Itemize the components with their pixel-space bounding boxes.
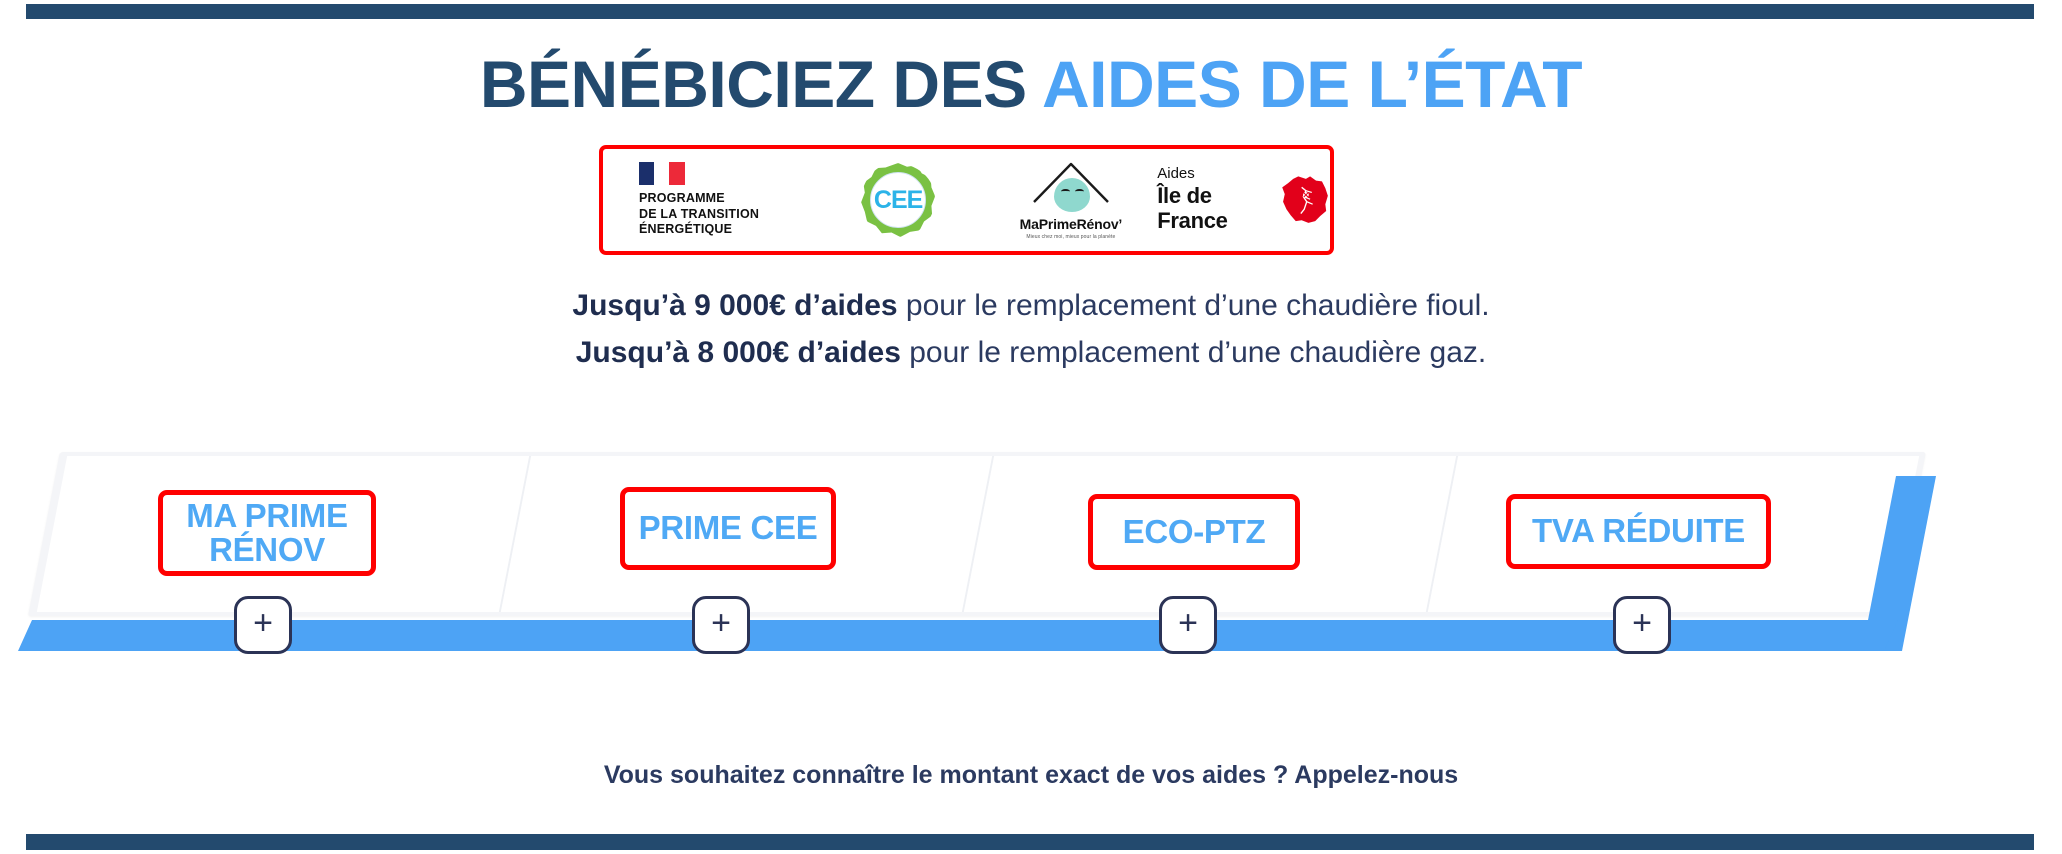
plus-icon: + [711, 606, 731, 640]
logo-maprimerenov: MaPrimeRénov’ Mieux chez moi, mieux pour… [985, 149, 1158, 251]
plus-icon: + [1178, 606, 1198, 640]
aid-card-tva-reduite[interactable]: TVA RÉDUITE [1506, 494, 1771, 569]
expand-button-ma-prime-renov[interactable]: + [234, 596, 292, 654]
maprimerenov-label: MaPrimeRénov’ [1020, 216, 1122, 232]
expand-button-tva-reduite[interactable]: + [1613, 596, 1671, 654]
top-divider-bar [26, 4, 2034, 19]
page-title-light-part: AIDES DE L’ÉTAT [1042, 47, 1582, 121]
maprimerenov-tagline: Mieux chez moi, mieux pour la planète [1026, 234, 1115, 240]
aid-amount-line-gaz: Jusqu’à 8 000€ d’aides pour le remplacem… [0, 329, 2062, 376]
page-title-dark-part: BÉNÉBICIEZ DES [480, 47, 1042, 121]
aid-amount-line-fioul: Jusqu’à 9 000€ d’aides pour le remplacem… [0, 282, 2062, 329]
idf-text: Aides Île de France [1157, 166, 1267, 233]
aid-amount-gaz-strong: Jusqu’à 8 000€ d’aides [576, 336, 901, 369]
aid-card-ma-prime-renov[interactable]: MA PRIME RÉNOV [158, 490, 376, 576]
aid-amount-fioul-rest: pour le remplacement d’une chaudière fio… [898, 289, 1490, 322]
aid-amount-gaz-rest: pour le remplacement d’une chaudière gaz… [901, 336, 1486, 369]
bottom-divider-bar [26, 834, 2034, 850]
partner-logo-strip: PROGRAMME DE LA TRANSITION ÉNERGÉTIQUE C… [599, 145, 1334, 255]
page-title: BÉNÉBICIEZ DES AIDES DE L’ÉTAT [0, 46, 2062, 122]
aid-card-4-label: TVA RÉDUITE [1532, 514, 1745, 548]
logo-programme-transition-energetique: PROGRAMME DE LA TRANSITION ÉNERGÉTIQUE [603, 149, 812, 251]
logo-aides-ile-de-france: Aides Île de France [1157, 149, 1330, 251]
plus-icon: + [1632, 606, 1652, 640]
logo-programme-text: PROGRAMME DE LA TRANSITION ÉNERGÉTIQUE [639, 191, 759, 238]
logo-programme-line-2: DE LA TRANSITION [639, 207, 759, 223]
plus-icon: + [253, 606, 273, 640]
maprimerenov-house-icon [1032, 161, 1110, 213]
aid-card-3-label: ECO-PTZ [1123, 515, 1266, 549]
logo-programme-line-3: ÉNERGÉTIQUE [639, 222, 759, 238]
contact-prompt: Vous souhaitez connaître le montant exac… [0, 761, 2062, 790]
aid-card-prime-cee[interactable]: PRIME CEE [620, 487, 836, 570]
expand-button-prime-cee[interactable]: + [692, 596, 750, 654]
idf-line-1: Aides [1157, 166, 1267, 183]
logo-programme-line-1: PROGRAMME [639, 191, 759, 207]
cee-label: CEE [874, 186, 922, 215]
aid-amounts: Jusqu’à 9 000€ d’aides pour le remplacem… [0, 282, 2062, 377]
aid-card-1-label: MA PRIME RÉNOV [163, 499, 371, 568]
aid-card-2-label: PRIME CEE [639, 511, 818, 545]
expand-button-eco-ptz[interactable]: + [1159, 596, 1217, 654]
aid-amount-fioul-strong: Jusqu’à 9 000€ d’aides [572, 289, 897, 322]
logo-cee: CEE [812, 149, 985, 251]
french-flag-icon [639, 162, 685, 185]
cee-badge-icon: CEE [861, 163, 935, 237]
ile-de-france-map-icon [1278, 169, 1330, 231]
idf-line-2: Île de France [1157, 183, 1267, 234]
aid-card-eco-ptz[interactable]: ECO-PTZ [1088, 494, 1300, 570]
